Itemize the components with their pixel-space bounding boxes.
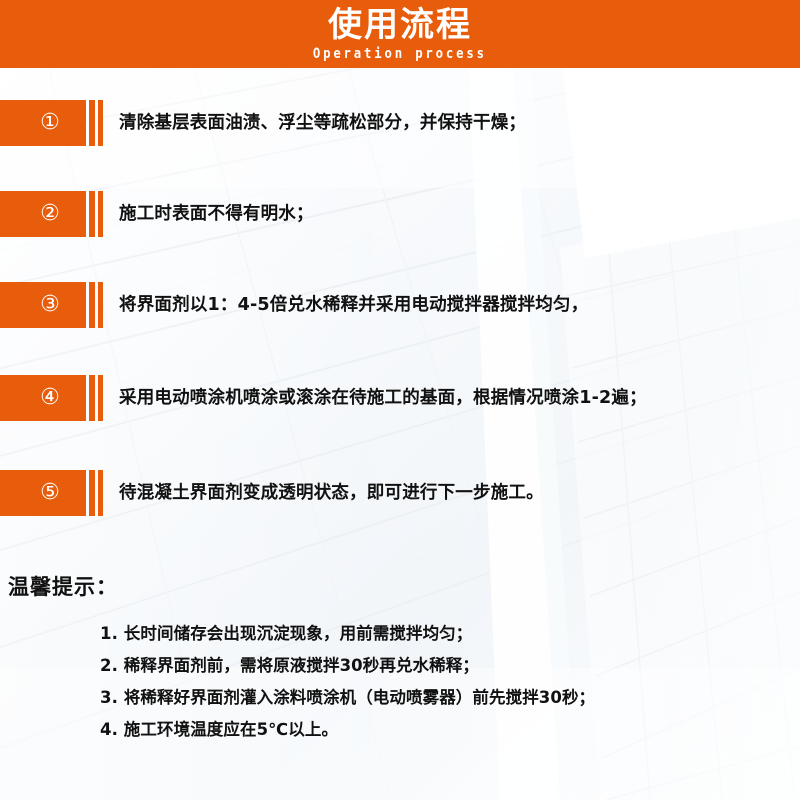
- operation-process-infographic: 使用流程 Operation process ① 清除基层表面油渍、浮尘等疏松部…: [0, 0, 800, 800]
- page-subtitle: Operation process: [313, 45, 487, 63]
- step-badge-2: ②: [0, 191, 86, 237]
- steps-list: ① 清除基层表面油渍、浮尘等疏松部分，并保持干燥； ② 施工时表面不得有明水； …: [0, 68, 800, 558]
- tips-list: 1. 长时间储存会出现沉淀现象，用前需搅拌均匀； 2. 稀释界面剂前，需将原液搅…: [100, 618, 790, 746]
- step-row-1: ① 清除基层表面油渍、浮尘等疏松部分，并保持干燥；: [0, 100, 800, 146]
- step-text-5: 待混凝土界面剂变成透明状态，即可进行下一步施工。: [110, 482, 800, 504]
- step-row-3: ③ 将界面剂以1：4-5倍兑水稀释并采用电动搅拌器搅拌均匀，: [0, 282, 800, 328]
- step-badge-4: ④: [0, 375, 86, 421]
- tip-item-4: 4. 施工环境温度应在5℃以上。: [100, 714, 790, 746]
- header-banner: 使用流程 Operation process: [0, 0, 800, 68]
- step-number-3: ③: [26, 294, 60, 316]
- step-text-1: 清除基层表面油渍、浮尘等疏松部分，并保持干燥；: [110, 112, 800, 134]
- step-text-3: 将界面剂以1：4-5倍兑水稀释并采用电动搅拌器搅拌均匀，: [110, 294, 800, 316]
- separator-bar-icon: [89, 470, 95, 516]
- separator-bar-icon: [89, 375, 95, 421]
- separator-bar-icon: [98, 282, 103, 328]
- step-number-5: ⑤: [26, 482, 60, 504]
- tip-item-3: 3. 将稀释好界面剂灌入涂料喷涂机（电动喷雾器）前先搅拌30秒；: [100, 682, 790, 714]
- step-text-2: 施工时表面不得有明水；: [110, 203, 800, 225]
- tip-item-2: 2. 稀释界面剂前，需将原液搅拌30秒再兑水稀释；: [100, 650, 790, 682]
- step-separator-bars-2: [86, 191, 110, 237]
- separator-bar-icon: [98, 375, 103, 421]
- step-separator-bars-3: [86, 282, 110, 328]
- tips-title: 温馨提示：: [8, 574, 118, 600]
- step-badge-3: ③: [0, 282, 86, 328]
- page-title: 使用流程: [328, 6, 472, 44]
- separator-bar-icon: [89, 282, 95, 328]
- step-separator-bars-5: [86, 470, 110, 516]
- separator-bar-icon: [98, 470, 103, 516]
- step-badge-1: ①: [0, 100, 86, 146]
- separator-bar-icon: [89, 100, 95, 146]
- separator-bar-icon: [98, 191, 103, 237]
- step-text-4: 采用电动喷涂机喷涂或滚涂在待施工的基面，根据情况喷涂1-2遍；: [110, 387, 800, 409]
- separator-bar-icon: [89, 191, 95, 237]
- step-badge-5: ⑤: [0, 470, 86, 516]
- separator-bar-icon: [98, 100, 103, 146]
- step-row-4: ④ 采用电动喷涂机喷涂或滚涂在待施工的基面，根据情况喷涂1-2遍；: [0, 375, 800, 421]
- step-row-5: ⑤ 待混凝土界面剂变成透明状态，即可进行下一步施工。: [0, 470, 800, 516]
- tip-item-1: 1. 长时间储存会出现沉淀现象，用前需搅拌均匀；: [100, 618, 790, 650]
- step-row-2: ② 施工时表面不得有明水；: [0, 191, 800, 237]
- step-number-4: ④: [26, 387, 60, 409]
- step-number-2: ②: [26, 203, 60, 225]
- step-separator-bars-1: [86, 100, 110, 146]
- step-number-1: ①: [26, 112, 60, 134]
- step-separator-bars-4: [86, 375, 110, 421]
